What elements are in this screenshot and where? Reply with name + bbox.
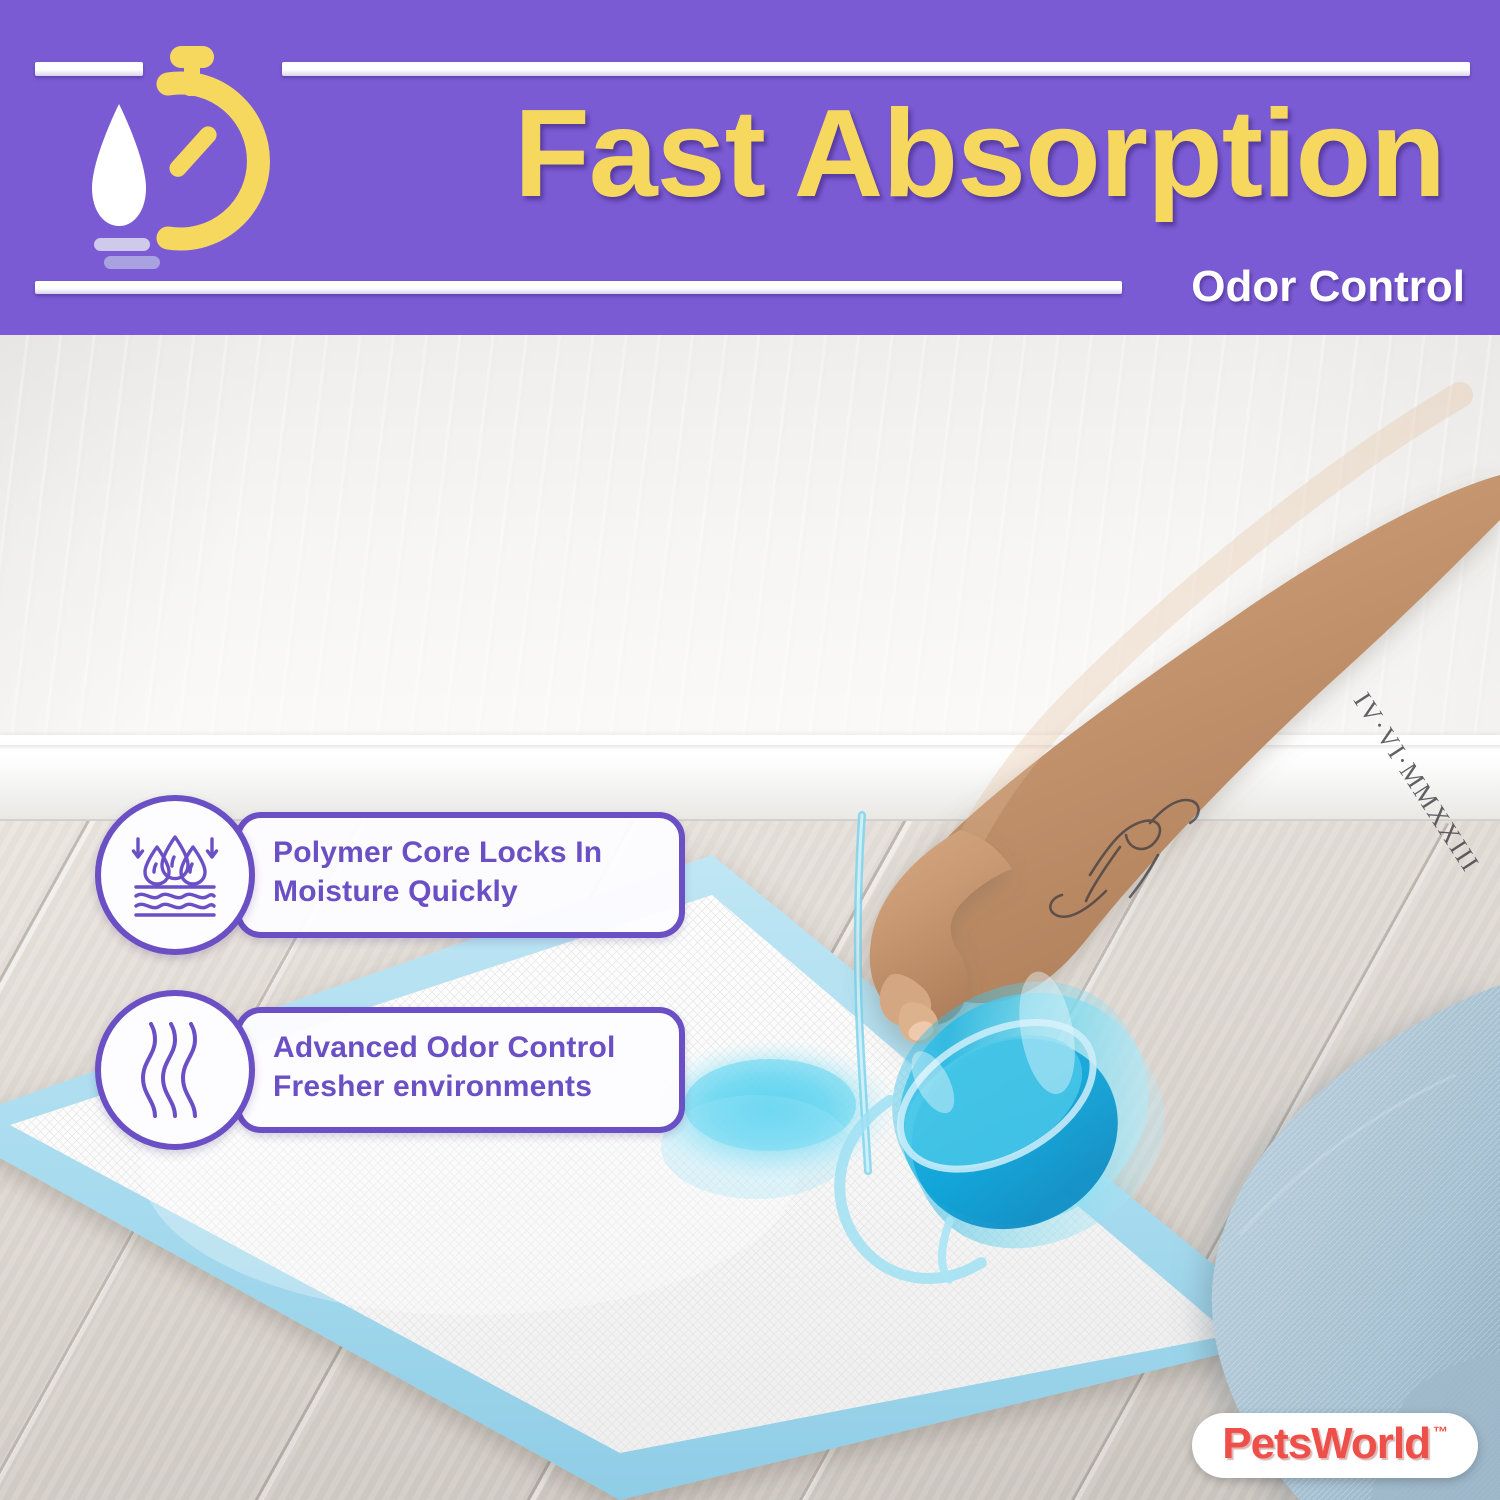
svg-text:IV·VI·MMXXIII: IV·VI·MMXXIII xyxy=(1348,687,1486,877)
header-rule-top-right xyxy=(282,62,1470,76)
odor-waves-icon xyxy=(129,1018,221,1122)
brand-name: PetsWorld xyxy=(1222,1422,1430,1466)
feature-badge[interactable]: Polymer Core Locks In Moisture Quickly xyxy=(95,795,695,955)
feature-badge-text: Polymer Core Locks In Moisture Quickly xyxy=(273,833,673,911)
feature-badge-line-1: Polymer Core Locks In xyxy=(273,833,673,872)
water-drop-stopwatch-icon xyxy=(72,42,302,272)
page-title: Fast Absorption xyxy=(375,92,1445,216)
feature-badge-line-1: Advanced Odor Control xyxy=(273,1028,673,1067)
feature-badge-icon-circle xyxy=(95,990,255,1150)
product-photo-scene: IV·VI·MMXXIII xyxy=(0,335,1500,1500)
product-infographic: IV·VI·MMXXIII xyxy=(0,0,1500,1500)
header-banner: Fast Absorption Odor Control xyxy=(0,0,1500,335)
stopwatch-glyph xyxy=(166,46,258,239)
feature-badge-text: Advanced Odor Control Fresher environmen… xyxy=(273,1028,673,1106)
header-rule-bottom xyxy=(35,281,1122,294)
feature-badge-list: Polymer Core Locks In Moisture Quickly xyxy=(95,795,695,1185)
feature-badge[interactable]: Advanced Odor Control Fresher environmen… xyxy=(95,990,695,1150)
glass-pitcher xyxy=(781,939,1203,1327)
tattoo-roman-numerals: IV·VI·MMXXIII xyxy=(1348,687,1486,877)
feature-badge-icon-circle xyxy=(95,795,255,955)
water-drop-glyph xyxy=(92,104,160,269)
feature-badge-line-2: Fresher environments xyxy=(273,1067,673,1106)
droplets-absorb-into-layers-icon xyxy=(123,823,227,927)
feature-badge-line-2: Moisture Quickly xyxy=(273,872,673,911)
brand-logo: PetsWorld ™ xyxy=(1192,1413,1478,1478)
trademark-symbol: ™ xyxy=(1433,1424,1448,1441)
page-subtitle: Odor Control xyxy=(1191,262,1465,312)
